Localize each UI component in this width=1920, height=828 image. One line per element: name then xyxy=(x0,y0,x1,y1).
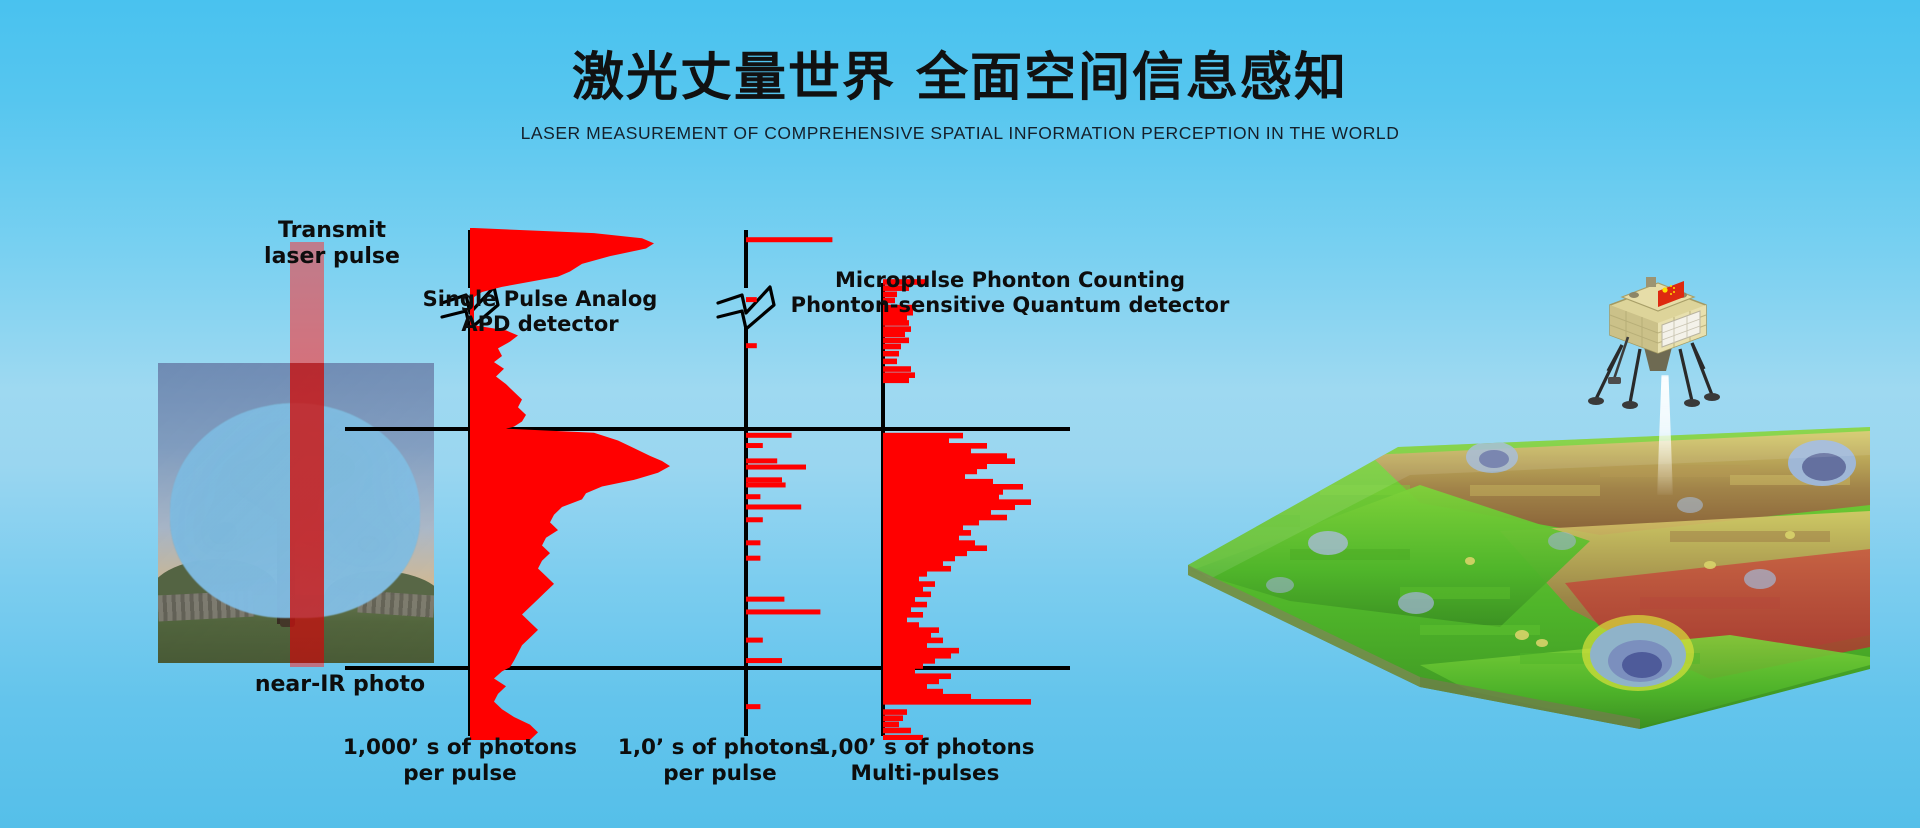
near-ir-photo-label: near-IR photo xyxy=(215,672,465,698)
page-subtitle: LASER MEASUREMENT OF COMPREHENSIVE SPATI… xyxy=(0,123,1920,144)
micropulse-photon-counting-label: Micropulse Phonton Counting Phonton-sens… xyxy=(790,268,1230,318)
axis-a-caption: 1,000’ s of photons per pulse xyxy=(330,735,590,787)
lander-footpads xyxy=(1588,393,1720,409)
single-pulse-analog-label: Single Pulse Analog APD detector xyxy=(370,287,710,337)
lidar-terrain-scene xyxy=(1170,275,1870,755)
page-title: 激光丈量世界 全面空间信息感知 xyxy=(0,50,1920,107)
lander-instrument-box xyxy=(1608,377,1621,384)
poster-canvas: 激光丈量世界 全面空间信息感知 LASER MEASUREMENT OF COM… xyxy=(0,0,1920,828)
terrain-dem-model xyxy=(1170,335,1870,755)
transmit-laser-pulse-label: Transmit laser pulse xyxy=(232,218,432,270)
lunar-lander xyxy=(1588,275,1728,425)
laser-beam-over-photo xyxy=(290,363,324,663)
dem-surface xyxy=(1188,427,1870,739)
axis-c-caption: 1,00’ s of photons Multi-pulses xyxy=(800,735,1050,787)
